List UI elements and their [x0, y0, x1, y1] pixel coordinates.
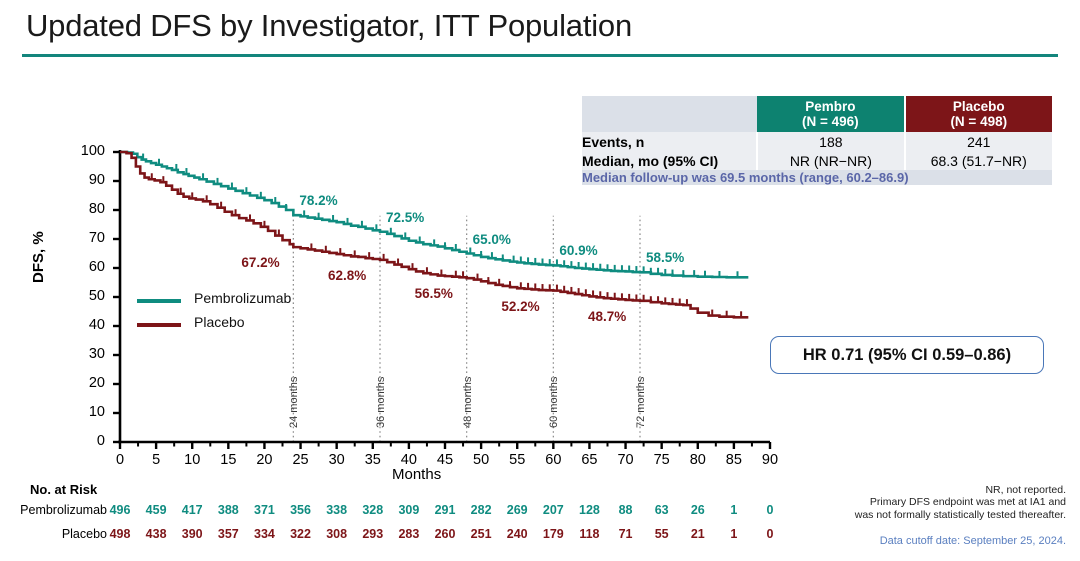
x-tick-label-70: 70: [609, 452, 643, 468]
risk-cell: 322: [286, 527, 316, 541]
y-tick-label-10: 10: [71, 404, 105, 420]
risk-cell: 357: [213, 527, 243, 541]
risk-cell: 179: [538, 527, 568, 541]
x-tick-label-60: 60: [536, 452, 570, 468]
risk-cell: 240: [502, 527, 532, 541]
curve-annotation-placebo-24mo: 67.2%: [241, 255, 279, 270]
footnote-line-3: was not formally statistically tested th…: [776, 509, 1066, 521]
curve-annotation-pembrolizumab-24mo: 78.2%: [299, 193, 337, 208]
curve-annotation-placebo-48mo: 56.5%: [415, 286, 453, 301]
legend-label-pembrolizumab: Pembrolizumab: [194, 290, 291, 306]
footnote-line-1: NR, not reported.: [776, 484, 1066, 496]
reference-line-label-60mo: 60 months: [548, 377, 560, 428]
curve-annotation-pembrolizumab-72mo: 58.5%: [646, 250, 684, 265]
risk-cell: 251: [466, 527, 496, 541]
risk-table-heading: No. at Risk: [30, 482, 97, 497]
risk-cell: 293: [358, 527, 388, 541]
risk-cell: 438: [141, 527, 171, 541]
risk-cell: 21: [683, 527, 713, 541]
y-tick-label-100: 100: [71, 143, 105, 159]
risk-cell: 63: [647, 503, 677, 517]
risk-cell: 1: [719, 527, 749, 541]
hazard-ratio-box: HR 0.71 (95% CI 0.59–0.86): [770, 336, 1044, 374]
risk-cell: 260: [430, 527, 460, 541]
risk-cell: 283: [394, 527, 424, 541]
risk-row-label-placebo: Placebo: [1, 527, 107, 541]
x-tick-label-25: 25: [284, 452, 318, 468]
x-axis-label: Months: [392, 466, 441, 483]
risk-cell: 328: [358, 503, 388, 517]
x-tick-label-30: 30: [320, 452, 354, 468]
curve-annotation-placebo-60mo: 52.2%: [501, 299, 539, 314]
risk-cell: 459: [141, 503, 171, 517]
y-axis-label: DFS, %: [30, 231, 47, 283]
reference-line-label-48mo: 48 months: [462, 377, 474, 428]
legend-swatch-icon-pembrolizumab: [137, 299, 181, 303]
legend-label-placebo: Placebo: [194, 314, 245, 330]
curve-annotation-pembrolizumab-36mo: 72.5%: [386, 210, 424, 225]
risk-cell: 26: [683, 503, 713, 517]
risk-cell: 309: [394, 503, 424, 517]
curve-annotation-placebo-36mo: 62.8%: [328, 268, 366, 283]
x-tick-label-35: 35: [356, 452, 390, 468]
risk-cell: 356: [286, 503, 316, 517]
km-plot: 24 months36 months48 months60 months72 m…: [0, 0, 1080, 556]
footnotes: NR, not reported. Primary DFS endpoint w…: [776, 484, 1066, 521]
reference-line-label-72mo: 72 months: [635, 377, 647, 428]
risk-cell: 269: [502, 503, 532, 517]
hazard-ratio-text: HR 0.71 (95% CI 0.59–0.86): [803, 346, 1011, 365]
risk-row-label-pembrolizumab: Pembrolizumab: [1, 503, 107, 517]
y-tick-label-0: 0: [71, 433, 105, 449]
risk-cell: 496: [105, 503, 135, 517]
risk-cell: 417: [177, 503, 207, 517]
x-tick-label-55: 55: [500, 452, 534, 468]
x-tick-label-90: 90: [753, 452, 787, 468]
y-tick-label-50: 50: [71, 288, 105, 304]
x-tick-label-75: 75: [645, 452, 679, 468]
risk-cell: 498: [105, 527, 135, 541]
x-tick-label-15: 15: [211, 452, 245, 468]
x-tick-label-80: 80: [681, 452, 715, 468]
risk-cell: 371: [249, 503, 279, 517]
risk-cell: 334: [249, 527, 279, 541]
y-tick-label-70: 70: [71, 230, 105, 246]
y-tick-label-60: 60: [71, 259, 105, 275]
risk-cell: 291: [430, 503, 460, 517]
risk-cell: 282: [466, 503, 496, 517]
risk-cell: 71: [611, 527, 641, 541]
reference-line-label-24mo: 24 months: [288, 377, 300, 428]
slide-root: Updated DFS by Investigator, ITT Populat…: [0, 0, 1080, 556]
risk-cell: 308: [322, 527, 352, 541]
x-tick-label-50: 50: [464, 452, 498, 468]
y-tick-label-20: 20: [71, 375, 105, 391]
risk-cell: 338: [322, 503, 352, 517]
risk-cell: 390: [177, 527, 207, 541]
y-tick-label-40: 40: [71, 317, 105, 333]
y-tick-label-90: 90: [71, 172, 105, 188]
x-tick-label-0: 0: [103, 452, 137, 468]
risk-cell: 55: [647, 527, 677, 541]
risk-cell: 88: [611, 503, 641, 517]
risk-cell: 207: [538, 503, 568, 517]
risk-cell: 128: [574, 503, 604, 517]
curve-annotation-pembrolizumab-48mo: 65.0%: [473, 232, 511, 247]
curve-annotation-placebo-72mo: 48.7%: [588, 309, 626, 324]
km-curves-svg: [0, 0, 1080, 556]
reference-line-label-36mo: 36 months: [375, 377, 387, 428]
legend-swatch-icon-placebo: [137, 323, 181, 327]
x-tick-label-20: 20: [247, 452, 281, 468]
risk-cell: 388: [213, 503, 243, 517]
data-cutoff-note: Data cutoff date: September 25, 2024.: [776, 535, 1066, 547]
risk-cell: 1: [719, 503, 749, 517]
footnote-line-2: Primary DFS endpoint was met at IA1 and: [776, 496, 1066, 508]
y-tick-label-30: 30: [71, 346, 105, 362]
x-tick-label-65: 65: [572, 452, 606, 468]
y-tick-label-80: 80: [71, 201, 105, 217]
curve-annotation-pembrolizumab-60mo: 60.9%: [559, 243, 597, 258]
risk-cell: 118: [574, 527, 604, 541]
x-tick-label-5: 5: [139, 452, 173, 468]
x-tick-label-85: 85: [717, 452, 751, 468]
x-tick-label-10: 10: [175, 452, 209, 468]
